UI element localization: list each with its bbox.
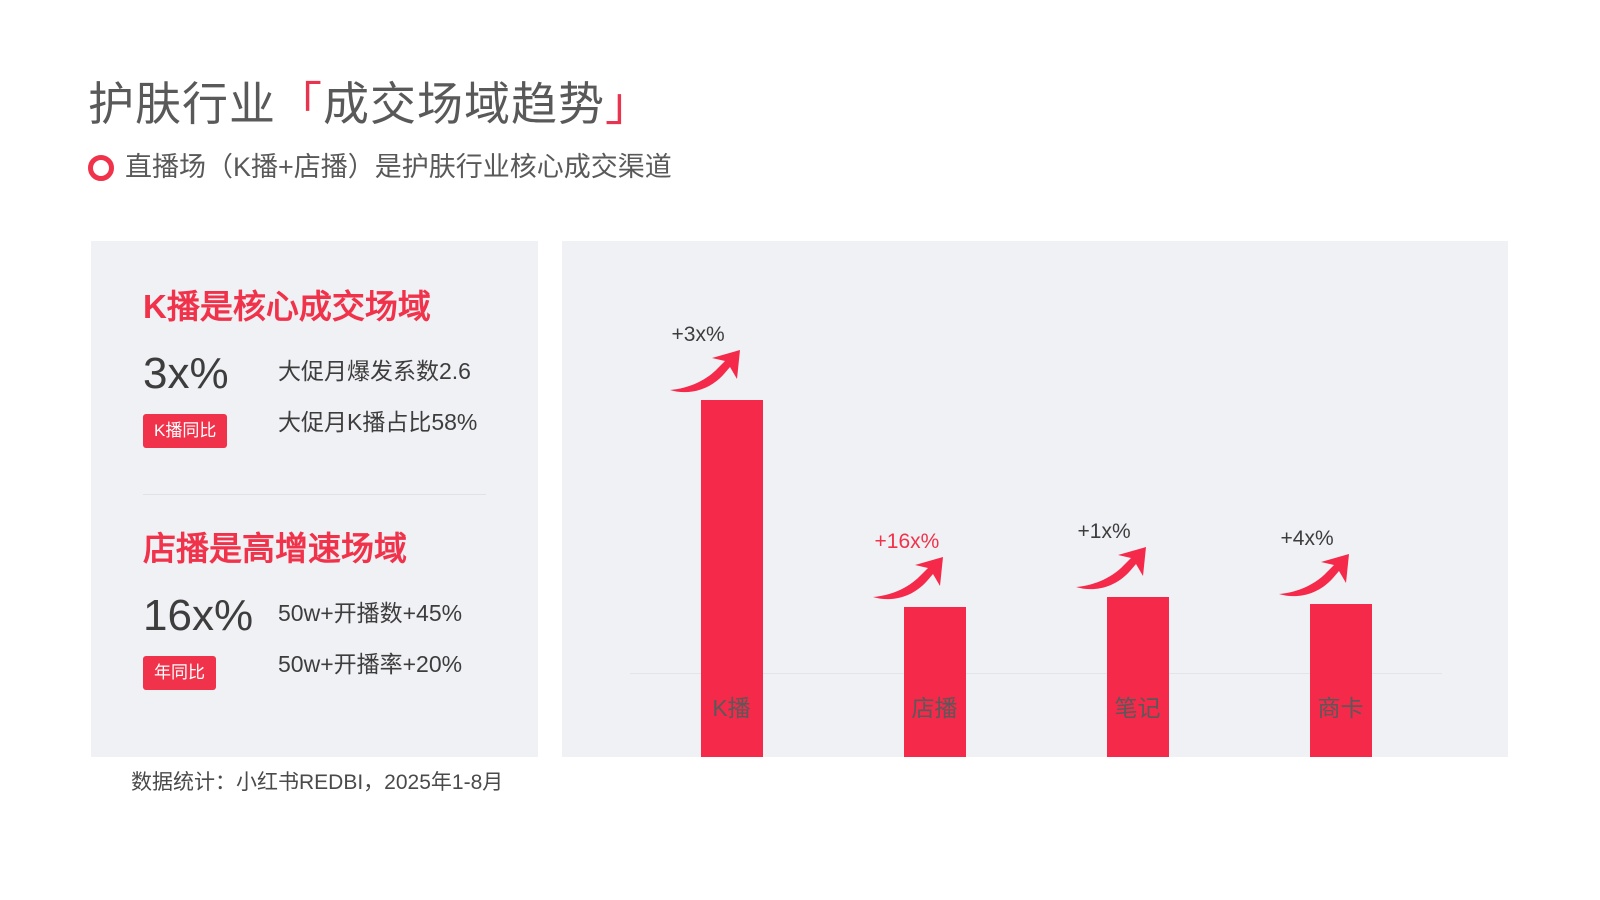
category-label-店播: 店播 bbox=[833, 693, 1036, 723]
kpi-right-column: 50w+开播数+45% 50w+开播率+20% bbox=[278, 590, 462, 679]
growth-label: +4x% bbox=[1277, 527, 1437, 551]
title-emphasis: 成交场域趋势 bbox=[323, 78, 605, 130]
page-title: 护肤行业「成交场域趋势」 bbox=[88, 74, 1488, 134]
left-kpi-panel: K播是核心成交场域 3x% K播同比 大促月爆发系数2.6 大促月K播占比58%… bbox=[91, 241, 538, 757]
ring-icon bbox=[88, 155, 114, 181]
growth-arrow-icon bbox=[668, 348, 828, 394]
kpi-left-column: 3x% K播同比 bbox=[143, 348, 278, 448]
kpi-body: 16x% 年同比 50w+开播数+45% 50w+开播率+20% bbox=[143, 590, 462, 690]
kpi-number: 16x% bbox=[143, 590, 278, 642]
growth-label: +1x% bbox=[1074, 520, 1234, 544]
title-bracket-close: 」 bbox=[605, 78, 652, 130]
kpi-block-dianbo: 店播是高增速场域 16x% 年同比 50w+开播数+45% 50w+开播率+20… bbox=[143, 528, 462, 690]
kpi-left-column: 16x% 年同比 bbox=[143, 590, 278, 690]
bar-annotation: +1x% bbox=[1074, 520, 1234, 591]
page-header: 护肤行业「成交场域趋势」 直播场（K播+店播）是护肤行业核心成交渠道 bbox=[88, 74, 1488, 184]
title-bracket-open: 「 bbox=[276, 78, 323, 130]
kpi-badge: 年同比 bbox=[143, 656, 216, 690]
bar-annotation: +16x% bbox=[871, 530, 1031, 601]
bar-chart: +3x%K播+16x%店播+1x%笔记+4x%商卡 bbox=[562, 241, 1508, 757]
bar-annotation: +4x% bbox=[1277, 527, 1437, 598]
kpi-badge: K播同比 bbox=[143, 414, 227, 448]
bar-商卡[interactable] bbox=[1310, 604, 1372, 757]
kpi-note: 50w+开播率+20% bbox=[278, 649, 462, 679]
growth-arrow-icon bbox=[1277, 552, 1437, 598]
growth-label: +3x% bbox=[668, 323, 828, 347]
category-label-K播: K播 bbox=[630, 693, 833, 723]
growth-arrow-icon bbox=[871, 555, 1031, 601]
subtitle-text: 直播场（K播+店播）是护肤行业核心成交渠道 bbox=[125, 150, 672, 184]
subtitle-row: 直播场（K播+店播）是护肤行业核心成交渠道 bbox=[88, 150, 1488, 184]
kpi-note: 50w+开播数+45% bbox=[278, 598, 462, 628]
panel-divider bbox=[143, 494, 486, 495]
kpi-block-kbo: K播是核心成交场域 3x% K播同比 大促月爆发系数2.6 大促月K播占比58% bbox=[143, 286, 477, 448]
kpi-right-column: 大促月爆发系数2.6 大促月K播占比58% bbox=[278, 348, 477, 437]
category-label-笔记: 笔记 bbox=[1036, 693, 1239, 723]
growth-arrow-icon bbox=[1074, 545, 1234, 591]
bar-笔记[interactable] bbox=[1107, 597, 1169, 757]
data-source-note: 数据统计：小红书REDBI，2025年1-8月 bbox=[131, 769, 503, 797]
bar-annotation: +3x% bbox=[668, 323, 828, 394]
growth-label: +16x% bbox=[871, 530, 1031, 554]
category-label-商卡: 商卡 bbox=[1239, 693, 1442, 723]
kpi-heading: K播是核心成交场域 bbox=[143, 286, 477, 328]
kpi-heading: 店播是高增速场域 bbox=[143, 528, 462, 570]
right-chart-panel: +3x%K播+16x%店播+1x%笔记+4x%商卡 bbox=[562, 241, 1508, 757]
title-main: 护肤行业 bbox=[88, 78, 276, 130]
kpi-note: 大促月爆发系数2.6 bbox=[278, 356, 477, 386]
kpi-note: 大促月K播占比58% bbox=[278, 407, 477, 437]
kpi-number: 3x% bbox=[143, 348, 278, 400]
kpi-body: 3x% K播同比 大促月爆发系数2.6 大促月K播占比58% bbox=[143, 348, 477, 448]
bar-店播[interactable] bbox=[904, 607, 966, 757]
